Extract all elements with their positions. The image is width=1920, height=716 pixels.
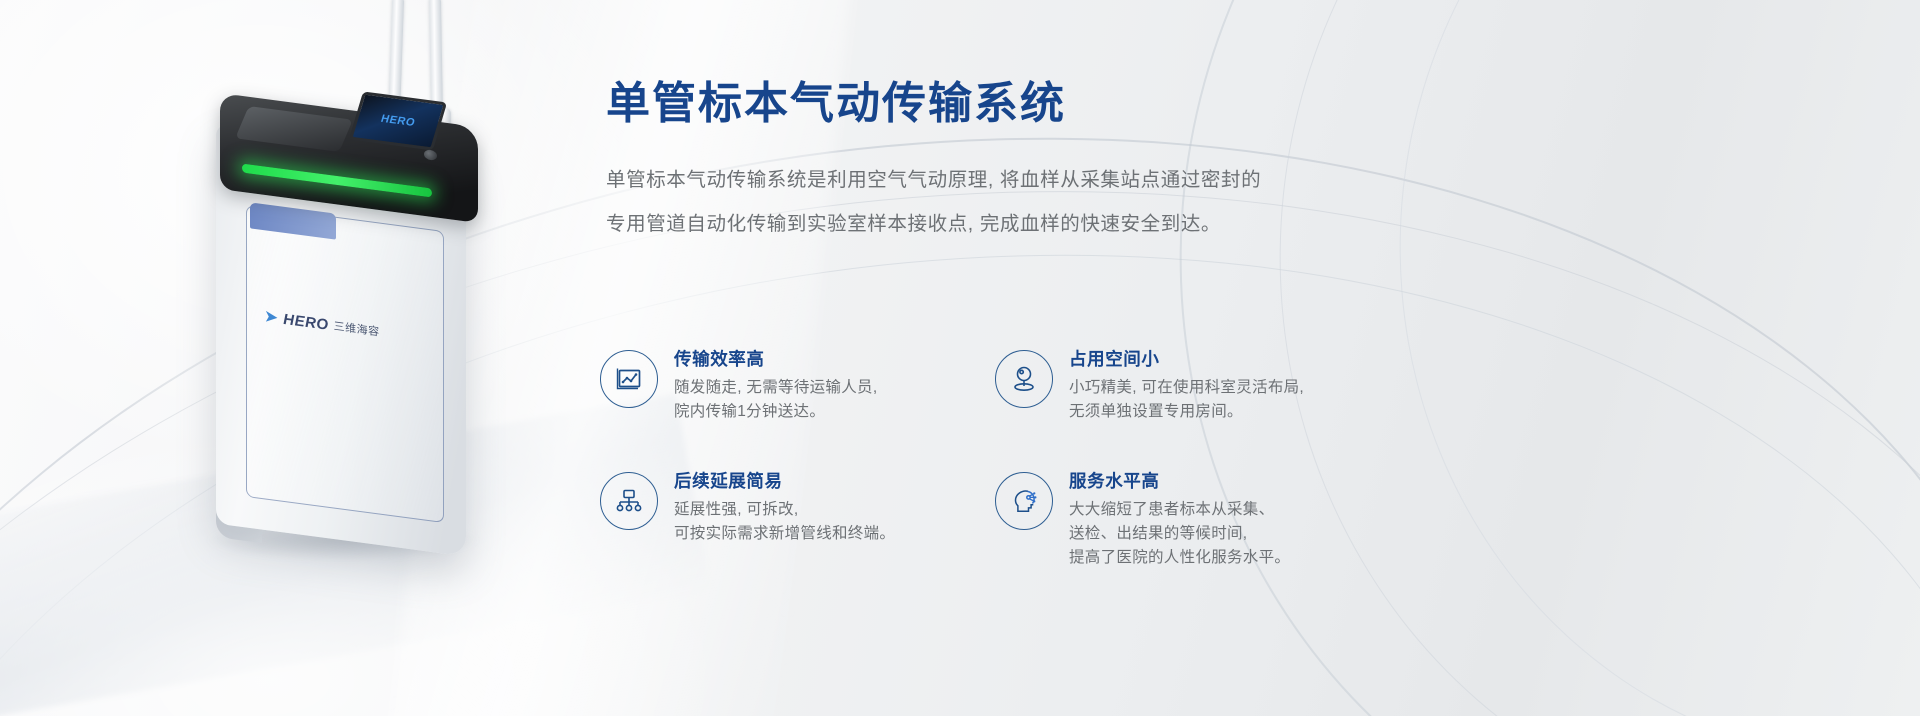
feature-item-transmission-efficiency: 传输效率高 随发随走, 无需等待运输人员, 院内传输1分钟送达。 bbox=[600, 348, 995, 424]
product-screen-label: HERO bbox=[379, 113, 416, 129]
pneumatic-tube-right bbox=[429, 0, 443, 116]
feature-description: 延展性强, 可拆改, 可按实际需求新增管线和终端。 bbox=[674, 498, 895, 546]
feature-text: 服务水平高 大大缩短了患者标本从采集、 送检、出结果的等候时间, 提高了医院的人… bbox=[1069, 470, 1290, 570]
feature-text: 后续延展简易 延展性强, 可拆改, 可按实际需求新增管线和终端。 bbox=[674, 470, 895, 546]
feature-title: 传输效率高 bbox=[674, 349, 877, 371]
page-title: 单管标本气动传输系统 bbox=[606, 78, 1606, 131]
banner-copy: 单管标本气动传输系统 单管标本气动传输系统是利用空气气动原理, 将血样从采集站点… bbox=[606, 78, 1606, 247]
feature-list: 传输效率高 随发随走, 无需等待运输人员, 院内传输1分钟送达。 占用空间小 小… bbox=[600, 348, 1500, 570]
feature-description: 随发随走, 无需等待运输人员, 院内传输1分钟送达。 bbox=[674, 376, 877, 424]
feature-title: 占用空间小 bbox=[1069, 349, 1304, 371]
chart-trend-icon bbox=[600, 350, 658, 408]
intro-paragraph: 单管标本气动传输系统是利用空气气动原理, 将血样从采集站点通过密封的专用管道自动… bbox=[606, 159, 1266, 247]
feature-description: 小巧精美, 可在使用科室灵活布局, 无须单独设置专用房间。 bbox=[1069, 376, 1304, 424]
feature-title: 后续延展简易 bbox=[674, 471, 895, 493]
logo-bird-icon: ➤ bbox=[264, 307, 278, 326]
product-door-panel bbox=[246, 205, 444, 523]
feature-description: 大大缩短了患者标本从采集、 送检、出结果的等候时间, 提高了医院的人性化服务水平… bbox=[1069, 498, 1290, 570]
network-tree-icon bbox=[600, 472, 658, 530]
head-brain-network-icon bbox=[995, 472, 1053, 530]
product-banner: HERO ➤ HERO 三维海容 单管标本气动传输系统 单管标本气动传输系统是利… bbox=[0, 0, 1920, 716]
product-image: HERO ➤ HERO 三维海容 bbox=[180, 0, 540, 560]
feature-text: 传输效率高 随发随走, 无需等待运输人员, 院内传输1分钟送达。 bbox=[674, 348, 877, 424]
feature-item-service-level: 服务水平高 大大缩短了患者标本从采集、 送检、出结果的等候时间, 提高了医院的人… bbox=[995, 470, 1390, 570]
space-pin-icon bbox=[995, 350, 1053, 408]
feature-text: 占用空间小 小巧精美, 可在使用科室灵活布局, 无须单独设置专用房间。 bbox=[1069, 348, 1304, 424]
feature-title: 服务水平高 bbox=[1069, 471, 1290, 493]
feature-item-easy-expansion: 后续延展简易 延展性强, 可拆改, 可按实际需求新增管线和终端。 bbox=[600, 470, 995, 570]
feature-item-small-footprint: 占用空间小 小巧精美, 可在使用科室灵活布局, 无须单独设置专用房间。 bbox=[995, 348, 1390, 424]
